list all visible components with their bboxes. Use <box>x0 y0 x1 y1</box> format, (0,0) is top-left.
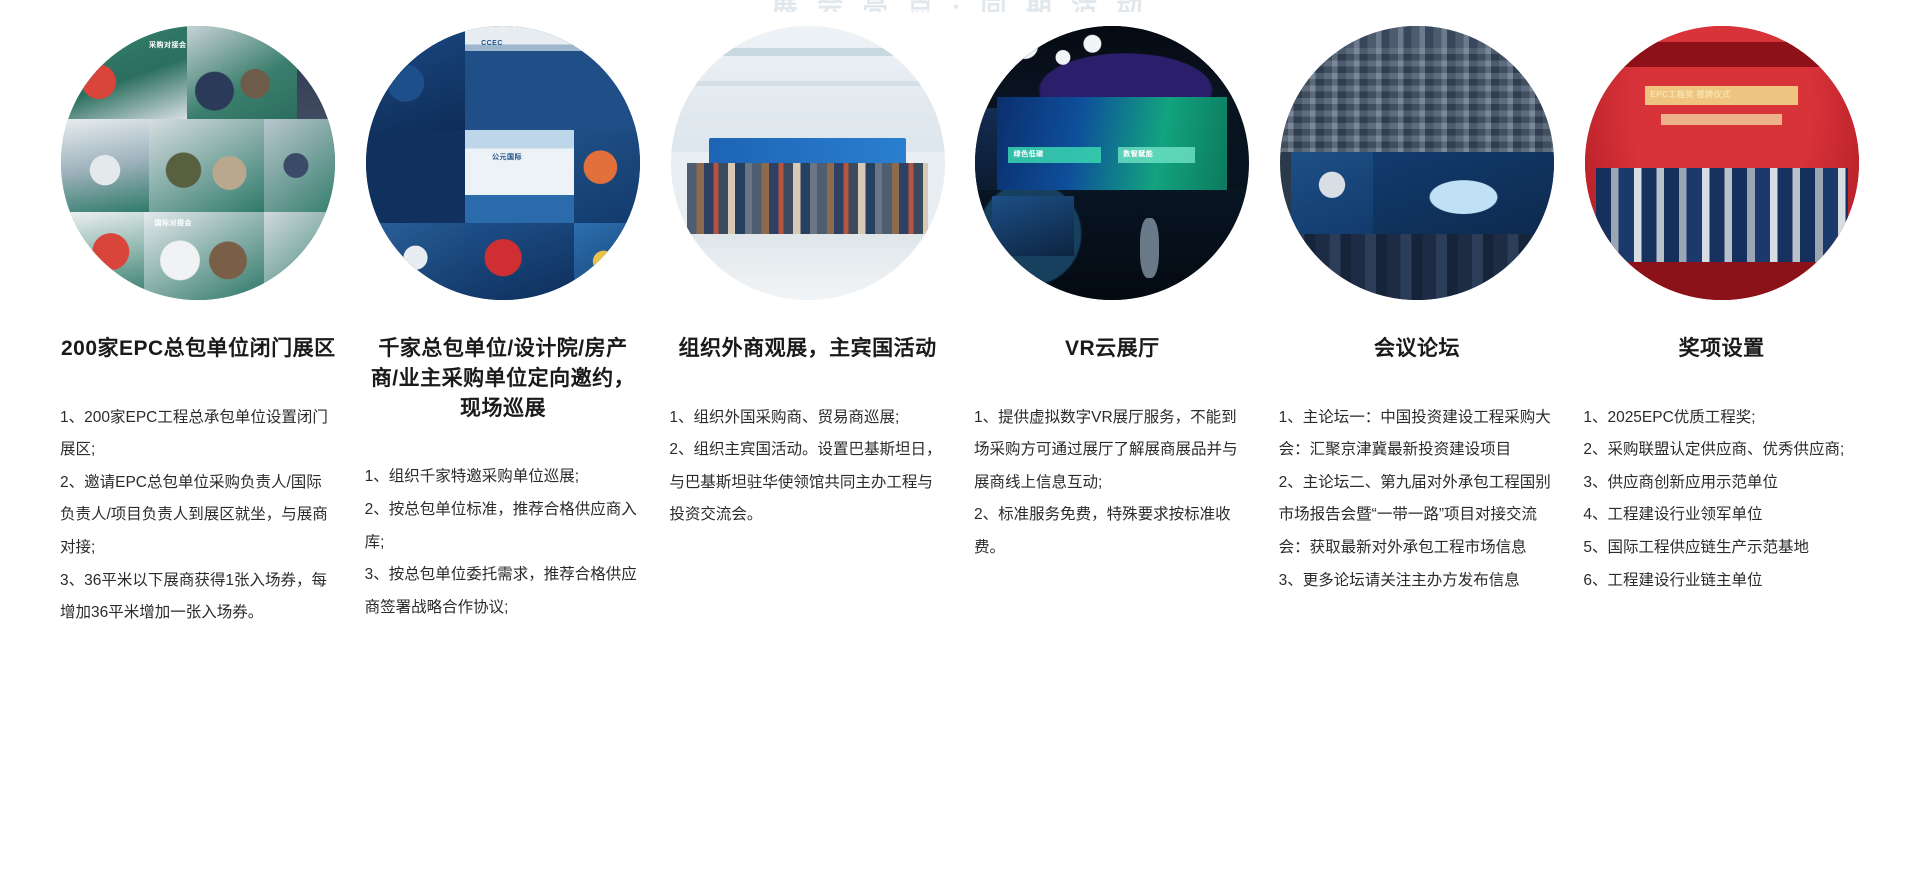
foreign-buyers-group-photo <box>671 26 945 300</box>
highlight-line: 3、供应商创新应用示范单位 <box>1583 467 1860 500</box>
highlight-line: 1、组织外国采购商、贸易商巡展; <box>669 402 946 435</box>
conference-forum-photo <box>1280 26 1554 300</box>
photo-tile <box>992 196 1074 256</box>
photo-tile <box>1585 262 1859 300</box>
photo-caption: EPC工程奖 授牌仪式 <box>1650 89 1730 100</box>
photo-tile <box>264 119 335 212</box>
photo-tile <box>1661 114 1782 125</box>
highlight-line: 1、组织千家特邀采购单位巡展; <box>365 461 642 494</box>
photo-tile <box>187 26 297 119</box>
photo-caption: 公元国际 <box>492 152 522 162</box>
photo-tile <box>1291 152 1373 234</box>
highlight-line: 1、2025EPC优质工程奖; <box>1583 402 1860 435</box>
highlight-column-2: CCEC 公元国际 千家总包单位/设计院/房产商/业主采购单位定向邀约，现场巡展… <box>351 26 656 878</box>
highlight-line: 1、提供虚拟数字VR展厅服务，不能到场采购方可通过展厅了解展商展品并与展商线上信… <box>974 402 1251 500</box>
photo-tile <box>997 97 1227 190</box>
photo-caption: 绿色低碳 <box>1014 149 1044 159</box>
photo-tile <box>1280 234 1554 300</box>
photo-tile <box>149 119 264 212</box>
photo-tile <box>1596 168 1848 261</box>
highlight-title: 200家EPC总包单位闭门展区 <box>60 334 337 364</box>
highlight-body: 1、组织千家特邀采购单位巡展; 2、按总包单位标准，推荐合格供应商入库; 3、按… <box>365 461 642 624</box>
highlight-body: 1、2025EPC优质工程奖; 2、采购联盟认定供应商、优秀供应商; 3、供应商… <box>1583 402 1860 597</box>
highlight-body: 1、组织外国采购商、贸易商巡展; 2、组织主宾国活动。设置巴基斯坦日，与巴基斯坦… <box>669 402 946 532</box>
photo-tile <box>1618 42 1826 67</box>
photo-tile <box>61 119 149 212</box>
photo-tile <box>1280 48 1554 152</box>
vr-cloud-hall-photo: 绿色低碳 数智赋能 <box>975 26 1249 300</box>
highlight-column-6: EPC工程奖 授牌仪式 奖项设置 1、2025EPC优质工程奖; 2、采购联盟认… <box>1569 26 1874 878</box>
photo-tile <box>671 26 945 152</box>
highlight-line: 1、200家EPC工程总承包单位设置闭门展区; <box>60 402 337 467</box>
highlight-body: 1、提供虚拟数字VR展厅服务，不能到场采购方可通过展厅了解展商展品并与展商线上信… <box>974 402 1251 565</box>
highlight-title: 千家总包单位/设计院/房产商/业主采购单位定向邀约，现场巡展 <box>365 334 642 423</box>
highlight-line: 3、36平米以下展商获得1张入场券，每增加36平米增加一张入场券。 <box>60 565 337 630</box>
highlight-column-5: 会议论坛 1、主论坛一：中国投资建设工程采购大会：汇聚京津冀最新投资建设项目 2… <box>1265 26 1570 878</box>
highlight-column-4: 绿色低碳 数智赋能 VR云展厅 1、提供虚拟数字VR展厅服务，不能到场采购方可通… <box>960 26 1265 878</box>
highlight-line: 2、标准服务免费，特殊要求按标准收费。 <box>974 499 1251 564</box>
highlight-column-3: 组织外商观展，主宾国活动 1、组织外国采购商、贸易商巡展; 2、组织主宾国活动。… <box>655 26 960 878</box>
photo-tile <box>264 212 335 300</box>
highlight-line: 2、邀请EPC总包单位采购负责人/国际负责人/项目负责人到展区就坐，与展商对接; <box>60 467 337 565</box>
highlight-line: 6、工程建设行业链主单位 <box>1583 565 1860 598</box>
photo-caption: 国际对接会 <box>154 218 192 228</box>
photo-caption: CCEC <box>481 40 503 47</box>
award-ceremony-photo: EPC工程奖 授牌仪式 <box>1585 26 1859 300</box>
photo-tile <box>671 81 945 86</box>
highlight-line: 2、采购联盟认定供应商、优秀供应商; <box>1583 434 1860 467</box>
photo-tile <box>366 130 465 223</box>
highlight-line: 2、组织主宾国活动。设置巴基斯坦日，与巴基斯坦驻华使领馆共同主办工程与投资交流会… <box>669 434 946 532</box>
exhibition-booths-photo: CCEC 公元国际 <box>366 26 640 300</box>
highlight-line: 3、更多论坛请关注主办方发布信息 <box>1279 565 1556 598</box>
photo-caption: 数智赋能 <box>1123 149 1153 159</box>
highlight-line: 2、按总包单位标准，推荐合格供应商入库; <box>365 494 642 559</box>
highlight-title: 组织外商观展，主宾国活动 <box>669 334 946 364</box>
photo-tile <box>1003 34 1113 72</box>
photo-tile <box>61 212 143 300</box>
highlight-body: 1、200家EPC工程总承包单位设置闭门展区; 2、邀请EPC总包单位采购负责人… <box>60 402 337 630</box>
photo-caption: 采购对接会 <box>149 40 187 50</box>
photo-tile <box>574 223 640 300</box>
photo-tile <box>687 163 928 234</box>
highlight-line: 4、工程建设行业领军单位 <box>1583 499 1860 532</box>
photo-tile <box>671 48 945 56</box>
epc-closed-door-matchmaking-photo: 采购对接会 国际对接会 <box>61 26 335 300</box>
photo-tile <box>574 130 640 223</box>
highlight-body: 1、主论坛一：中国投资建设工程采购大会：汇聚京津冀最新投资建设项目 2、主论坛二… <box>1279 402 1556 597</box>
highlight-line: 3、按总包单位委托需求，推荐合格供应商签署战略合作协议; <box>365 559 642 624</box>
highlights-grid: 采购对接会 国际对接会 200家EPC总包单位闭门展区 1、200家EPC工程总… <box>0 26 1920 878</box>
photo-tile <box>1373 152 1554 234</box>
photo-tile <box>1140 218 1159 278</box>
photo-tile <box>671 234 945 300</box>
highlight-title: 会议论坛 <box>1279 334 1556 364</box>
highlight-line: 5、国际工程供应链生产示范基地 <box>1583 532 1860 565</box>
highlight-column-1: 采购对接会 国际对接会 200家EPC总包单位闭门展区 1、200家EPC工程总… <box>46 26 351 878</box>
clipped-section-heading: 展 会 亮 点 · 同 期 活 动 <box>0 0 1920 12</box>
photo-tile <box>366 26 465 130</box>
photo-tile <box>366 223 465 300</box>
photo-tile <box>465 223 575 300</box>
highlight-title: 奖项设置 <box>1583 334 1860 364</box>
highlight-title: VR云展厅 <box>974 334 1251 364</box>
highlight-line: 2、主论坛二、第九届对外承包工程国别市场报告会暨“一带一路”项目对接交流会：获取… <box>1279 467 1556 565</box>
photo-tile <box>465 130 575 223</box>
highlight-line: 1、主论坛一：中国投资建设工程采购大会：汇聚京津冀最新投资建设项目 <box>1279 402 1556 467</box>
